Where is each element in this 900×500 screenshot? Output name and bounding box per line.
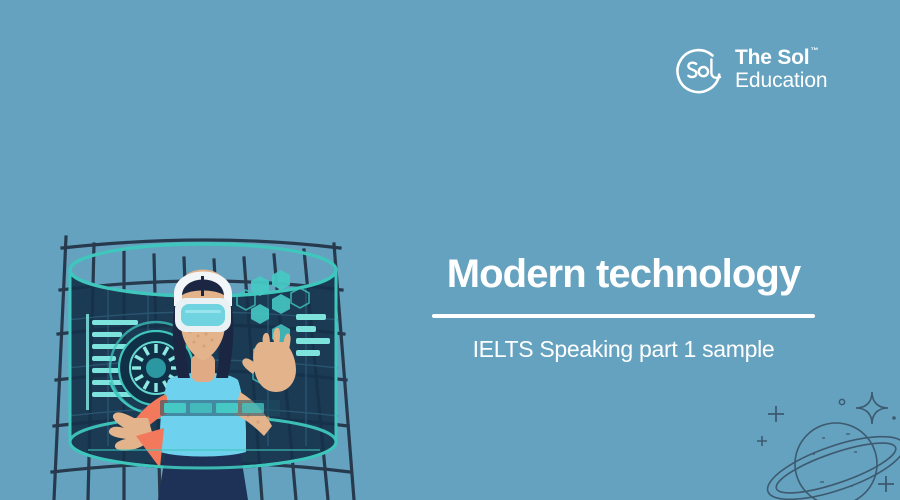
brand-wordmark: The Sol™ Education bbox=[735, 47, 828, 94]
page-subtitle: IELTS Speaking part 1 sample bbox=[432, 318, 815, 364]
brand-logo[interactable]: The Sol™ Education bbox=[674, 46, 828, 96]
brand-name-line2: Education bbox=[735, 69, 828, 93]
sparkle-group bbox=[757, 392, 894, 492]
promo-banner: The Sol™ Education Modern technology IEL… bbox=[0, 0, 900, 500]
page-title: Modern technology bbox=[432, 252, 815, 297]
vr-visor-lens bbox=[181, 304, 225, 326]
sparkle-plus-icon bbox=[878, 476, 894, 492]
planet-ring-outer bbox=[761, 424, 900, 500]
sparkle-star-icon bbox=[856, 392, 888, 424]
sparkle-plus-icon bbox=[768, 406, 784, 422]
figure-skirt bbox=[158, 450, 248, 500]
planet-ring-inner bbox=[772, 433, 900, 500]
planet-body bbox=[795, 423, 877, 500]
brand-name-line1: The Sol™ bbox=[735, 47, 828, 69]
trademark-symbol: ™ bbox=[810, 46, 818, 55]
sparkle-dots bbox=[839, 399, 895, 419]
sol-circle-logo-icon bbox=[674, 46, 724, 96]
hero-text-block: Modern technology IELTS Speaking part 1 … bbox=[432, 252, 815, 363]
saturn-decoration bbox=[750, 390, 900, 500]
hud-chest-strip bbox=[160, 400, 280, 416]
vr-woman-illustration bbox=[48, 228, 358, 500]
sparkle-small-plus-icon bbox=[757, 436, 767, 446]
planet-surface-marks bbox=[812, 434, 857, 486]
